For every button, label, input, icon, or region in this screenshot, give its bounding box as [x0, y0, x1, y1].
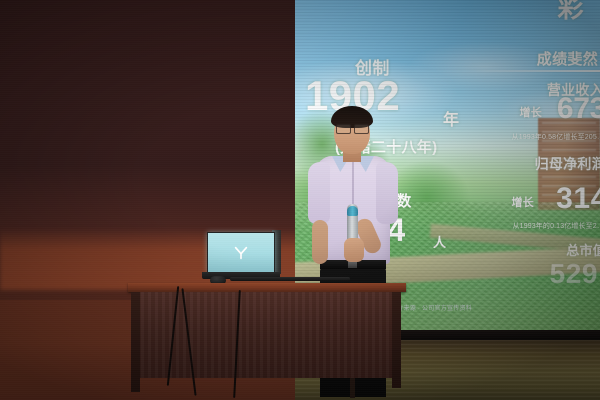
desk-microphone [230, 277, 350, 281]
desk-leg-right [392, 292, 401, 388]
presenter-sleeve-left [308, 162, 330, 224]
slide-marketcap-label: 总市值 [566, 240, 600, 259]
slide-title-cutoff: 彩 [557, 0, 584, 25]
presenter-arm-left [312, 220, 328, 264]
slide-netprofit-note: 从1993年的0.13亿增长至2… [513, 221, 600, 231]
desk-top [128, 283, 406, 292]
slide-heading-rule [470, 70, 600, 72]
slide-revenue-value: 673 [557, 92, 600, 126]
glasses-icon [336, 124, 369, 132]
presenter-sleeve-right [376, 162, 398, 224]
slide-netprofit-growth-label: 增长 [512, 194, 534, 210]
slide-achievements-heading: 成绩斐然 [537, 48, 598, 69]
slide-marketcap-value: 529 [550, 258, 598, 290]
microphone-band [347, 206, 358, 216]
slide-revenue-note: 从1993年0.58亿增长至205… [512, 132, 600, 142]
laptop-logo-icon [233, 245, 249, 261]
presenter-belt-buckle [348, 261, 357, 268]
slide-founding-year-unit: 年 [443, 106, 459, 130]
slide-netprofit-value: 314 [556, 182, 600, 216]
presenter-hand [344, 238, 364, 262]
desk-leg-left [131, 292, 140, 392]
laptop-screen[interactable] [207, 232, 275, 273]
screenshot-root: 彩 创制 1902 年 (光绪二十八年) 总数 34 人 成绩斐然 营业收入 增… [0, 0, 600, 400]
slide-netprofit-label: 归母净利润 [535, 154, 600, 174]
slide-total-unit: 人 [433, 232, 446, 251]
slide-revenue-growth-label: 增长 [520, 104, 542, 120]
